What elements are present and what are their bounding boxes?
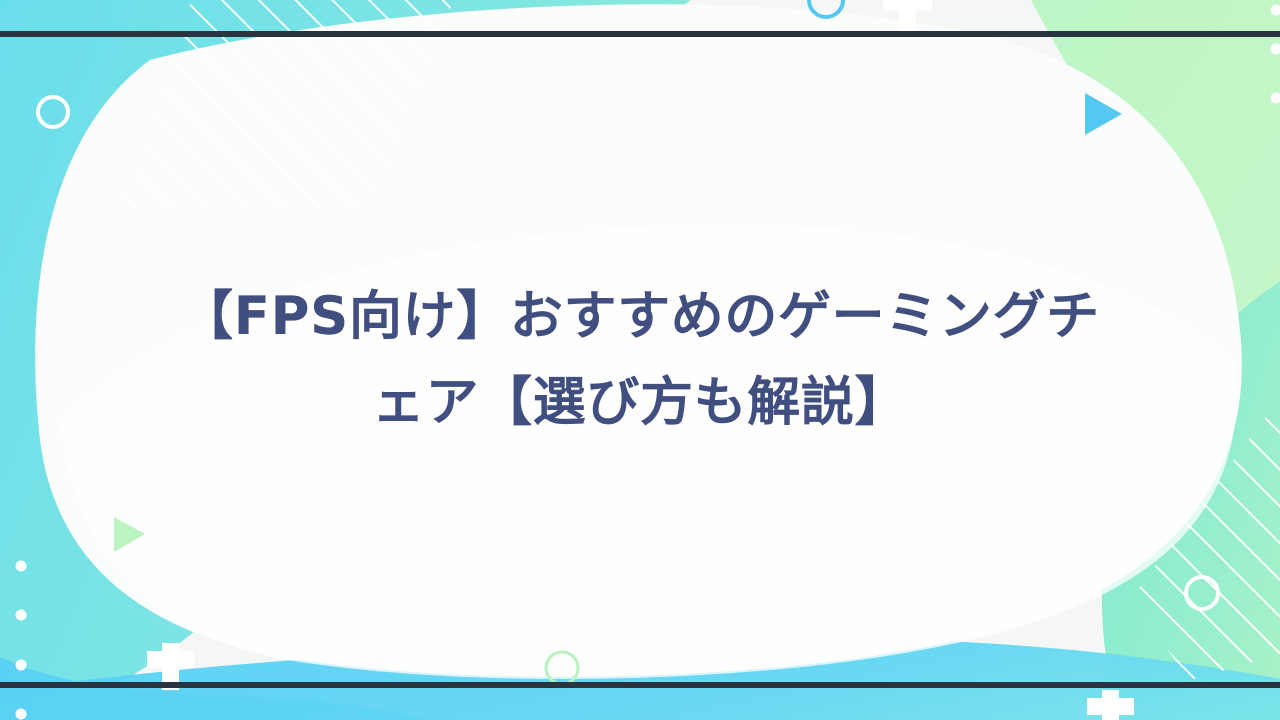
bottom-rule <box>0 682 1280 688</box>
eyecatch-canvas: 【FPS向け】おすすめのゲーミングチェア【選び方も解説】 <box>0 0 1280 720</box>
top-rule <box>0 31 1280 37</box>
background-artwork <box>0 0 1280 720</box>
